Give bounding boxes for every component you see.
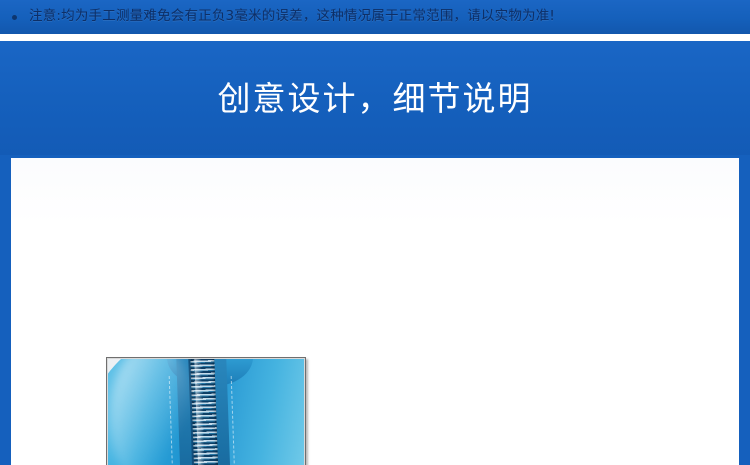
pouch-highlight-sheen <box>109 358 195 465</box>
content-blue-frame: 1、顺畅拉链条，耐用 <box>0 155 750 465</box>
zipper-closeup-image <box>107 358 305 465</box>
content-area: 1、顺畅拉链条，耐用 <box>11 158 739 465</box>
zipper-closeup-photo <box>106 357 306 465</box>
product-detail-page: 注意:均为手工测量难免会有正负3毫米的误差，这种情况属于正常范围，请以实物为准!… <box>0 0 750 465</box>
notice-text: 注意:均为手工测量难免会有正负3毫米的误差，这种情况属于正常范围，请以实物为准! <box>29 10 555 24</box>
section-heading-band: 创意设计，细节说明 <box>0 41 750 155</box>
measurement-notice-bar: 注意:均为手工测量难免会有正负3毫米的误差，这种情况属于正常范围，请以实物为准! <box>0 0 750 34</box>
bullet-dot-icon <box>12 15 17 20</box>
page-title: 创意设计，细节说明 <box>218 82 533 115</box>
notice-separator-gap <box>0 34 750 41</box>
